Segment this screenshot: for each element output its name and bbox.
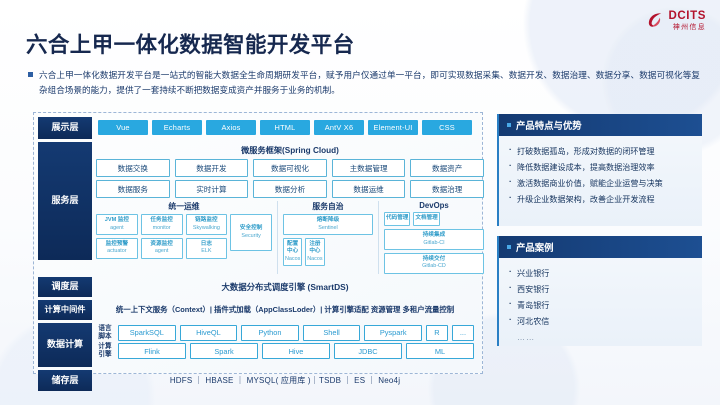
service-modules-row1: 数据交换 数据开发 数据可视化 主数据管理 数据资产: [96, 159, 484, 177]
list-item: 西安银行: [509, 282, 692, 298]
compute-row-tag: 计算 引擎: [96, 343, 114, 359]
card-header: 产品案例: [499, 236, 702, 258]
panel-title: 统一运维: [96, 201, 272, 214]
config-en: Nacos: [285, 256, 300, 263]
brand-text: DCITS 神州信息: [669, 11, 707, 31]
brand-name: DCITS: [669, 11, 707, 23]
ops-item-cn: 任务监控: [143, 217, 181, 225]
autonomy-item-en: Sentinel: [285, 225, 371, 232]
ops-item-cn: 资源监控: [143, 241, 181, 249]
engine-item[interactable]: JDBC: [334, 343, 402, 359]
engine-item[interactable]: Spark: [190, 343, 258, 359]
tech-tag[interactable]: HTML: [260, 120, 310, 135]
tag-line1: 语言: [98, 325, 111, 332]
layer-label-storage: 储存层: [38, 370, 92, 391]
compute-row-engine: 计算 引擎 Flink Spark Hive JDBC ML: [96, 343, 474, 359]
layer-label-service: 服务层: [38, 142, 92, 260]
card-title: 产品案例: [516, 240, 554, 254]
architecture-diagram: 展示层 Vue Echarts Axios HTML AntV X6 Eleme…: [33, 112, 483, 374]
panel-unified-ops: 统一运维 JVM 监控 agent 监控预警 actuator: [96, 201, 278, 274]
service-module[interactable]: 数据治理: [410, 180, 484, 198]
brand-sub: 神州信息: [669, 24, 707, 31]
devops-row: 代码管理 文档管理: [384, 212, 484, 226]
compute-label-line1: 数据: [47, 339, 65, 350]
tech-tag[interactable]: Echarts: [152, 120, 202, 135]
service-modules-row2: 数据服务 实时计算 数据分析 数据运维 数据治理: [96, 180, 484, 198]
feature-list: 打破数据孤岛，形成对数据的闭环管理 降低数据建设成本，提高数据治理效率 激活数据…: [499, 136, 702, 208]
autonomy-stack: 熔断降级 Sentinel 配置 中心 Nacos 注册: [283, 214, 373, 266]
language-item[interactable]: Python: [241, 325, 299, 341]
service-module[interactable]: 数据分析: [253, 180, 327, 198]
service-module[interactable]: 主数据管理: [332, 159, 406, 177]
ops-grid: JVM 监控 agent 监控预警 actuator 任务监: [96, 214, 272, 259]
service-module[interactable]: 数据资产: [410, 159, 484, 177]
devops-item-doc-mgmt[interactable]: 文档管理: [413, 212, 439, 226]
ops-item-cn: JVM 监控: [98, 217, 136, 225]
ops-item-en: agent: [98, 225, 136, 232]
ops-item-cn: 安全控制: [232, 225, 270, 233]
panel-service-autonomy: 服务自治 熔断降级 Sentinel 配置 中心 Nacos: [283, 201, 379, 274]
ops-item[interactable]: 任务监控 monitor: [141, 214, 183, 235]
autonomy-item-cn: 熔断降级: [285, 217, 371, 225]
list-item: 打破数据孤岛，形成对数据的闭环管理: [509, 144, 692, 160]
layer-label-schedule: 调度层: [38, 277, 92, 297]
list-item: 青岛银行: [509, 298, 692, 314]
list-item-more: ……: [509, 330, 692, 346]
layer-compute: 数据 计算 语言 脚本 SparkSQL HiveQL Python Shell…: [38, 323, 478, 367]
registry-en: Nacos: [307, 256, 322, 263]
description-text: 六合上甲一体化数据开发平台是一站式的智能大数据全生命周期研发平台，赋予用户仅通过…: [39, 68, 700, 98]
list-item: 激活数据商业价值，赋能企业运营与决策: [509, 176, 692, 192]
panel-devops: DevOps 代码管理 文档管理 持续集成: [384, 201, 484, 274]
ops-item-en: actuator: [98, 248, 136, 255]
engine-item[interactable]: ML: [406, 343, 474, 359]
ops-column: 任务监控 monitor 资源监控 agent: [141, 214, 183, 259]
header-square-icon: [507, 123, 511, 127]
registry-line2: 中心: [307, 248, 322, 256]
dcits-swoosh-logo-icon: [646, 11, 665, 30]
compute-row-language: 语言 脚本 SparkSQL HiveQL Python Shell Pyspa…: [96, 325, 474, 341]
ops-column: 链路监控 Skywalking 日志 ELK: [186, 214, 228, 259]
compute-row-tag: 语言 脚本: [96, 325, 114, 341]
layer-presentation: 展示层 Vue Echarts Axios HTML AntV X6 Eleme…: [38, 117, 478, 139]
brand-logo: DCITS 神州信息: [646, 11, 707, 31]
devops-item-ci[interactable]: 持续集成 Gitlab-CI: [384, 229, 484, 250]
layer-schedule: 调度层 大数据分布式调度引擎 (SmartDS): [38, 277, 478, 297]
devops-item-cn: 持续交付: [386, 256, 482, 264]
ops-item[interactable]: 日志 ELK: [186, 238, 228, 259]
middleware-body: 统一上下文服务（Context）| 插件式加载（AppClassLoder）| …: [92, 300, 478, 320]
list-item: 升级企业数据架构，改善企业开发流程: [509, 192, 692, 208]
bullet-square-icon: [28, 72, 33, 77]
tag-line1: 计算: [98, 343, 111, 350]
middleware-capabilities: 统一上下文服务（Context）| 插件式加载（AppClassLoder）| …: [96, 300, 474, 319]
tech-tag[interactable]: AntV X6: [314, 120, 364, 135]
ops-item-security[interactable]: 安全控制 Security: [230, 214, 272, 251]
card-product-features: 产品特点与优势 打破数据孤岛，形成对数据的闭环管理 降低数据建设成本，提高数据治…: [497, 114, 702, 226]
micro-framework-title: 微服务框架(Spring Cloud): [96, 142, 484, 159]
compute-label-line2: 计算: [65, 339, 83, 350]
autonomy-item-circuit-breaker[interactable]: 熔断降级 Sentinel: [283, 214, 373, 235]
service-sub-panels: 统一运维 JVM 监控 agent 监控预警 actuator: [96, 201, 484, 274]
service-module[interactable]: 数据开发: [175, 159, 249, 177]
service-module[interactable]: 数据服务: [96, 180, 170, 198]
language-item-more[interactable]: ...: [452, 325, 474, 341]
layer-label-presentation: 展示层: [38, 117, 92, 139]
tech-tag[interactable]: Vue: [98, 120, 148, 135]
devops-stack: 代码管理 文档管理 持续集成 Gitlab-CI: [384, 212, 484, 274]
autonomy-item-config-center[interactable]: 配置 中心 Nacos: [283, 238, 302, 266]
list-item: 降低数据建设成本，提高数据治理效率: [509, 160, 692, 176]
service-module[interactable]: 数据运维: [332, 180, 406, 198]
ops-item-en: ELK: [188, 248, 226, 255]
tech-tag[interactable]: Element-UI: [368, 120, 418, 135]
storage-body: HDFS ｜ HBASE ｜ MYSQL( 应用库 )｜TSDB ｜ ES ｜ …: [92, 370, 478, 391]
ops-item[interactable]: 资源监控 agent: [141, 238, 183, 259]
ops-item-cn: 链路监控: [188, 217, 226, 225]
layer-middleware: 计算中间件 统一上下文服务（Context）| 插件式加载（AppClassLo…: [38, 300, 478, 320]
autonomy-item-registry-center[interactable]: 注册 中心 Nacos: [305, 238, 324, 266]
service-module[interactable]: 数据可视化: [253, 159, 327, 177]
page-title: 六合上甲一体化数据智能开发平台: [26, 28, 355, 59]
devops-item-en: Gitlab-CI: [386, 240, 482, 247]
card-title: 产品特点与优势: [516, 118, 582, 132]
language-item[interactable]: Pyspark: [364, 325, 422, 341]
ops-item-en: agent: [143, 248, 181, 255]
schedule-body: 大数据分布式调度引擎 (SmartDS): [92, 277, 478, 297]
layer-label-middleware: 计算中间件: [38, 300, 92, 320]
card-product-cases: 产品案例 兴业银行 西安银行 青岛银行 河北农信 ……: [497, 236, 702, 346]
service-module[interactable]: 实时计算: [175, 180, 249, 198]
devops-item-code-mgmt[interactable]: 代码管理: [384, 212, 410, 226]
service-module[interactable]: 数据交换: [96, 159, 170, 177]
tag-line2: 引擎: [98, 351, 111, 358]
compute-engine-list: Flink Spark Hive JDBC ML: [118, 343, 474, 359]
case-list: 兴业银行 西安银行 青岛银行 河北农信 ……: [499, 258, 702, 347]
tech-tag[interactable]: CSS: [422, 120, 472, 135]
presentation-tag-row: Vue Echarts Axios HTML AntV X6 Element-U…: [96, 117, 474, 138]
panel-title: DevOps: [384, 201, 484, 212]
page-description: 六合上甲一体化数据开发平台是一站式的智能大数据全生命周期研发平台，赋予用户仅通过…: [28, 68, 700, 98]
list-item: 河北农信: [509, 314, 692, 330]
config-line2: 中心: [285, 248, 300, 256]
devops-item-cn: 代码管理: [386, 215, 408, 223]
presentation-body: Vue Echarts Axios HTML AntV X6 Element-U…: [92, 117, 478, 139]
language-item[interactable]: R: [426, 325, 448, 341]
language-script-list: SparkSQL HiveQL Python Shell Pyspark R .…: [118, 325, 474, 341]
header-square-icon: [507, 245, 511, 249]
devops-item-cn: 文档管理: [415, 215, 437, 223]
language-item[interactable]: Shell: [303, 325, 361, 341]
tech-tag[interactable]: Axios: [206, 120, 256, 135]
ops-item[interactable]: JVM 监控 agent: [96, 214, 138, 235]
panel-title: 服务自治: [283, 201, 373, 214]
ops-item[interactable]: 监控预警 actuator: [96, 238, 138, 259]
ops-item-en: monitor: [143, 225, 181, 232]
engine-item[interactable]: Hive: [262, 343, 330, 359]
service-body: 微服务框架(Spring Cloud) 数据交换 数据开发 数据可视化 主数据管…: [92, 142, 488, 274]
layer-label-compute: 数据 计算: [38, 323, 92, 367]
engine-item[interactable]: Flink: [118, 343, 186, 359]
tag-line2: 脚本: [98, 333, 111, 340]
layer-storage: 储存层 HDFS ｜ HBASE ｜ MYSQL( 应用库 )｜TSDB ｜ E…: [38, 370, 478, 391]
storage-technologies: HDFS ｜ HBASE ｜ MYSQL( 应用库 )｜TSDB ｜ ES ｜ …: [96, 370, 474, 391]
devops-item-cd[interactable]: 持续交付 Gitlab-CD: [384, 253, 484, 274]
card-header: 产品特点与优势: [499, 114, 702, 136]
ops-item-en: Skywalking: [188, 225, 226, 232]
autonomy-row: 配置 中心 Nacos 注册 中心 Nacos: [283, 238, 373, 266]
ops-item[interactable]: 链路监控 Skywalking: [186, 214, 228, 235]
slide-page: DCITS 神州信息 六合上甲一体化数据智能开发平台 六合上甲一体化数据开发平台…: [0, 0, 720, 405]
compute-body: 语言 脚本 SparkSQL HiveQL Python Shell Pyspa…: [92, 323, 478, 367]
ops-column: 安全控制 Security: [230, 214, 272, 259]
ops-item-cn: 日志: [188, 241, 226, 249]
schedule-engine-title: 大数据分布式调度引擎 (SmartDS): [96, 277, 474, 295]
devops-item-cn: 持续集成: [386, 232, 482, 240]
language-item[interactable]: HiveQL: [180, 325, 238, 341]
devops-item-en: Gitlab-CD: [386, 263, 482, 270]
list-item: 兴业银行: [509, 266, 692, 282]
layer-service: 服务层 微服务框架(Spring Cloud) 数据交换 数据开发 数据可视化 …: [38, 142, 478, 274]
ops-column: JVM 监控 agent 监控预警 actuator: [96, 214, 138, 259]
ops-item-cn: 监控预警: [98, 241, 136, 249]
ops-item-en: Security: [232, 233, 270, 240]
language-item[interactable]: SparkSQL: [118, 325, 176, 341]
